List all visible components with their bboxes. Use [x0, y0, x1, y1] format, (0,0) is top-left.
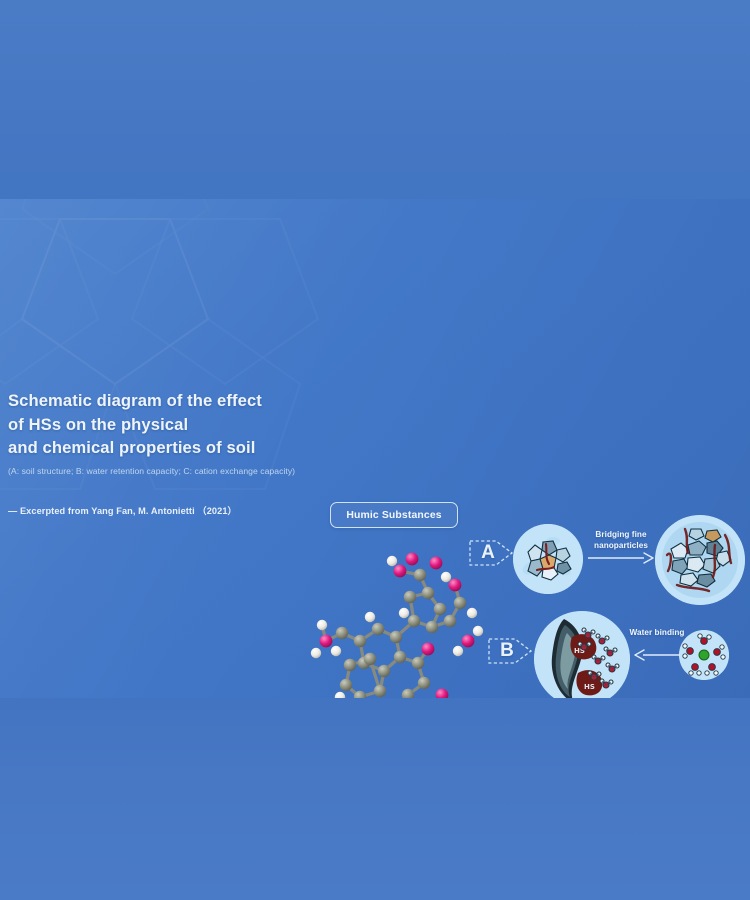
- panel-b-arrow: [634, 645, 680, 665]
- panel-a-after-illustration: [655, 515, 745, 605]
- panel-b-caption: Water binding: [626, 628, 688, 639]
- title-line-2: of HSs on the physical: [8, 413, 338, 437]
- panel-b-chevron: B: [487, 629, 535, 673]
- panel-a-chevron: A: [468, 531, 516, 575]
- panel-a-caption: Bridging fine nanoparticles: [578, 530, 664, 551]
- background-band-bottom: [0, 698, 750, 900]
- source-credit: — Excerpted from Yang Fan, M. Antonietti…: [8, 503, 338, 517]
- panel-a-before-illustration: [513, 524, 583, 594]
- panel-b-letter: B: [487, 629, 527, 673]
- poster-canvas: Schematic diagram of the effect of HSs o…: [0, 0, 750, 900]
- title-line-1: Schematic diagram of the effect: [8, 389, 338, 413]
- page-title: Schematic diagram of the effect of HSs o…: [8, 389, 338, 460]
- humic-substances-text: Humic Substances: [346, 510, 441, 521]
- background-band-top: [0, 0, 750, 199]
- panel-b-main-illustration: HS HS: [534, 611, 630, 698]
- page-subtitle: (A: soil structure; B: water retention c…: [8, 466, 338, 477]
- panel-a-letter: A: [468, 531, 508, 575]
- title-line-3: and chemical properties of soil: [8, 436, 338, 460]
- headline-block: Schematic diagram of the effect of HSs o…: [8, 389, 338, 517]
- svg-text:HS: HS: [584, 683, 595, 691]
- content-band: Schematic diagram of the effect of HSs o…: [0, 199, 750, 698]
